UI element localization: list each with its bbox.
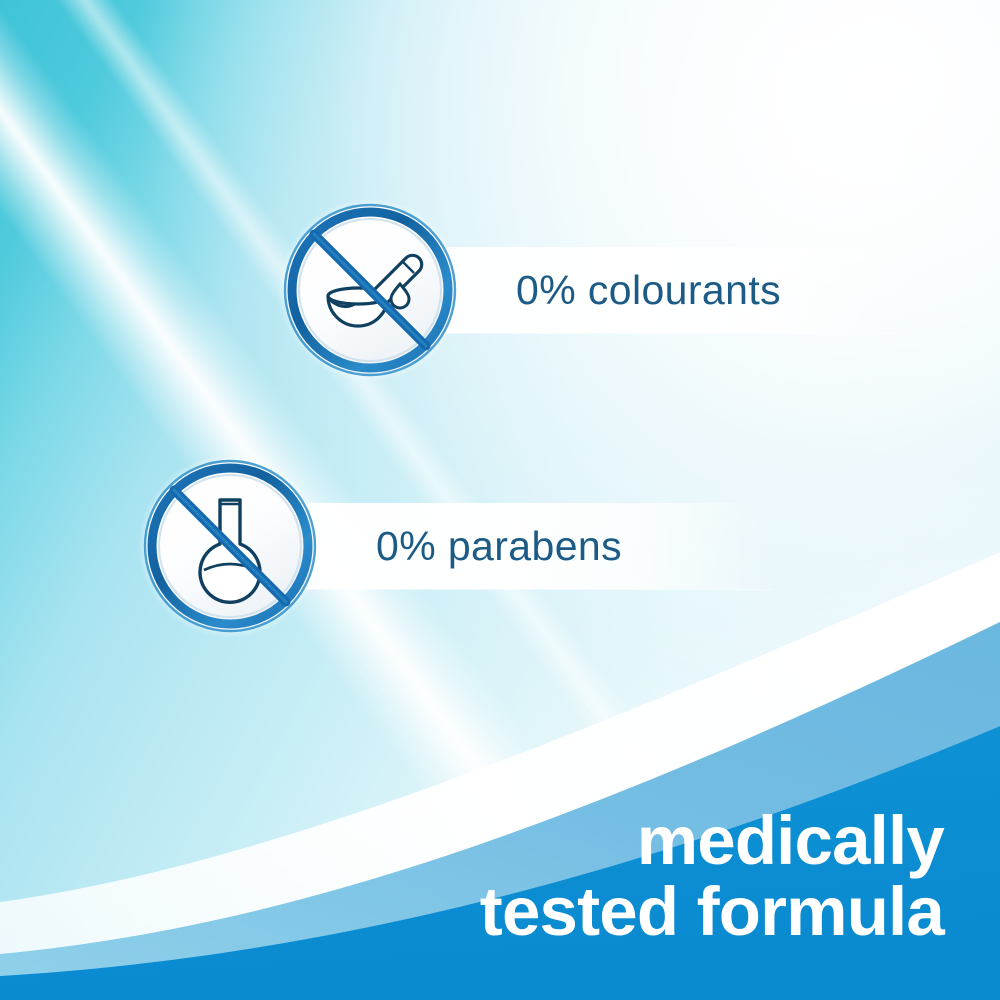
no-parabens-icon — [132, 448, 328, 644]
feature-label-bar: 0% colourants — [438, 247, 901, 333]
feature-row-parabens: 0% parabens — [132, 448, 772, 644]
feature-label-text: 0% parabens — [376, 523, 622, 570]
promo-banner: 0% colourants — [0, 0, 1000, 1000]
feature-row-colourants: 0% colourants — [272, 192, 901, 388]
feature-label-text: 0% colourants — [516, 267, 781, 314]
feature-label-bar: 0% parabens — [298, 503, 772, 589]
headline-medically-tested-formula: medically tested formula — [480, 805, 944, 949]
no-colourants-icon — [272, 192, 468, 388]
